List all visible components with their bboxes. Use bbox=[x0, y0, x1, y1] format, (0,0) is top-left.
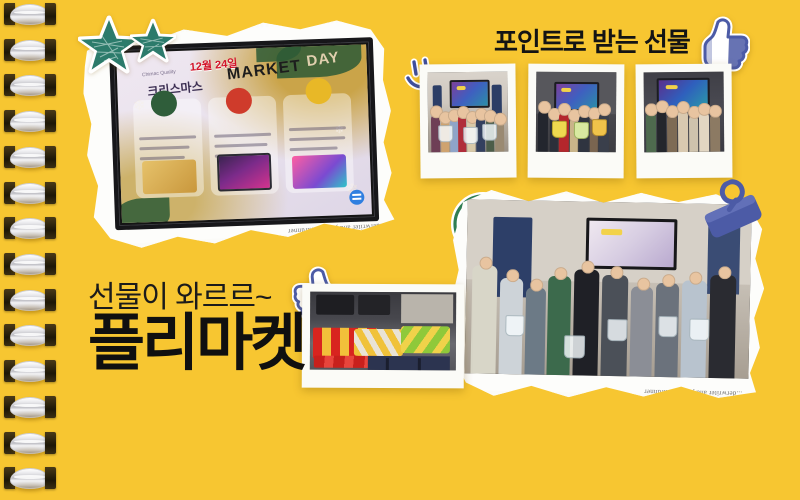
tv-stamp-3 bbox=[305, 77, 332, 104]
binding-ring bbox=[4, 74, 56, 96]
tv-screen-content: ❄ ❄ ❄ Chimac Quality 12월 24일 MARKET DAY … bbox=[116, 44, 372, 223]
tv-thumb-3 bbox=[292, 154, 347, 189]
tv-column-3 bbox=[283, 93, 354, 194]
polaroid-photo-2 bbox=[536, 72, 617, 153]
binding-ring bbox=[4, 467, 56, 489]
tv-stamp-2 bbox=[225, 87, 252, 114]
binding-ring bbox=[4, 182, 56, 204]
binding-ring bbox=[4, 432, 56, 454]
polaroid-group-photo-2[interactable] bbox=[528, 64, 625, 179]
binding-ring bbox=[4, 110, 56, 132]
tv-thumb-1 bbox=[142, 159, 197, 194]
headline-block: 선물이 와르르~ 플리마켓 bbox=[88, 283, 304, 374]
tv-monitor: ❄ ❄ ❄ Chimac Quality 12월 24일 MARKET DAY … bbox=[109, 37, 379, 230]
binding-ring bbox=[4, 146, 56, 168]
binding-ring bbox=[4, 396, 56, 418]
polaroid-group-photo-3[interactable] bbox=[636, 64, 733, 179]
polaroid-group-photo-1[interactable] bbox=[419, 64, 516, 179]
tv-column-1 bbox=[133, 98, 204, 199]
tv-thumb-2 bbox=[217, 153, 272, 192]
torn-paper-caption: ...derwriter and joint bookrunner bbox=[644, 388, 742, 398]
binding-ring bbox=[4, 253, 56, 275]
market-table-photo bbox=[310, 292, 456, 371]
binding-ring bbox=[4, 39, 56, 61]
binding-ring bbox=[4, 324, 56, 346]
scrapbook-page: ❄ ❄ ❄ Chimac Quality 12월 24일 MARKET DAY … bbox=[0, 0, 800, 500]
binding-ring bbox=[4, 3, 56, 25]
tv-column-2 bbox=[208, 95, 279, 196]
headline-title: 플리마켓 bbox=[88, 315, 304, 374]
binding-ring bbox=[4, 217, 56, 239]
star-doodle-small bbox=[130, 18, 176, 64]
polaroid-photo-1 bbox=[427, 72, 508, 153]
polaroid-photo-3 bbox=[644, 72, 725, 153]
binding-ring bbox=[4, 289, 56, 311]
binding-ring bbox=[4, 360, 56, 382]
tv-stamp-1 bbox=[150, 90, 177, 117]
torn-edge-bottom bbox=[88, 228, 398, 253]
spiral-binding bbox=[0, 0, 62, 500]
flea-market-table-photo[interactable] bbox=[302, 284, 465, 389]
page-title-points: 포인트로 받는 선물 bbox=[494, 22, 690, 59]
tv-menu-icon bbox=[349, 189, 365, 205]
tv-brand-label: Chimac Quality bbox=[142, 69, 176, 79]
